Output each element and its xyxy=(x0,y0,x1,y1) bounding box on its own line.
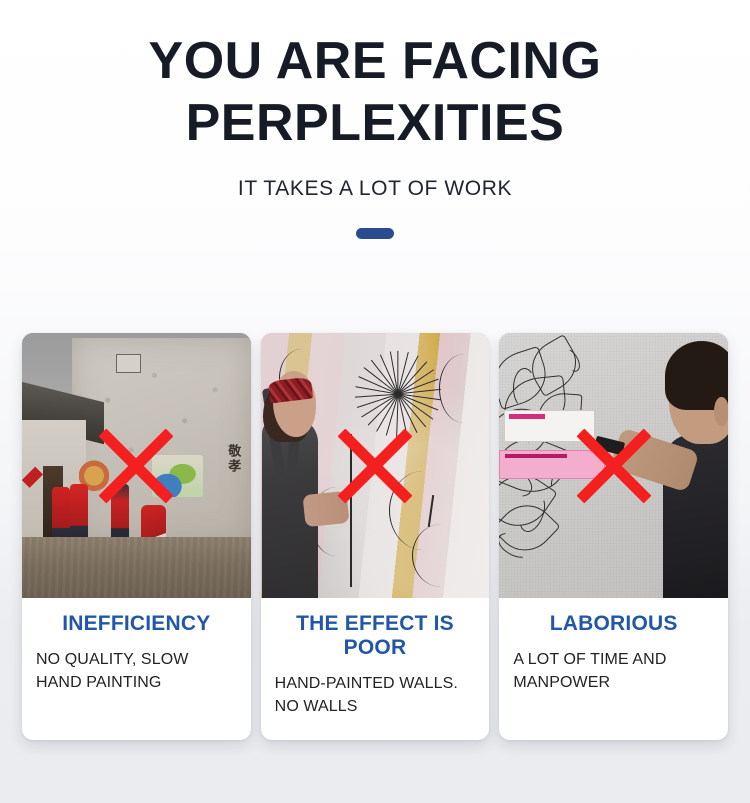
card-laborious[interactable]: LABORIOUS A LOT OF TIME AND MANPOWER xyxy=(499,333,728,740)
card-text-3: A LOT OF TIME AND MANPOWER xyxy=(513,648,714,694)
man-artist xyxy=(632,333,728,598)
card-body-3: LABORIOUS A LOT OF TIME AND MANPOWER xyxy=(499,598,728,740)
page-title-line-2: PERPLEXITIES xyxy=(0,92,750,154)
card-body-2: THE EFFECT IS POOR HAND-PAINTED WALLS. N… xyxy=(261,598,490,740)
divider-pill xyxy=(356,228,394,239)
card-media-1: 敬孝 xyxy=(22,333,251,598)
chrysanthemum-outline xyxy=(357,349,439,439)
wall-notice-white xyxy=(504,410,595,442)
page-header: YOU ARE FACING PERPLEXITIES IT TAKES A L… xyxy=(0,0,750,239)
leaf-outline-5 xyxy=(439,354,489,423)
volunteer-2 xyxy=(70,484,88,545)
page-title-line-1: YOU ARE FACING xyxy=(0,30,750,92)
photo-man-drawing-line-art xyxy=(499,333,728,598)
card-media-3 xyxy=(499,333,728,598)
card-title-3: LABORIOUS xyxy=(513,612,714,636)
photo-woman-painting-floral-mural xyxy=(261,333,490,598)
card-text-2: HAND-PAINTED WALLS. NO WALLS xyxy=(275,672,476,718)
ear xyxy=(714,397,728,426)
card-inefficiency[interactable]: 敬孝 INEFFICIENCY NO QUALITY, SLOW HAND PA… xyxy=(22,333,251,740)
promo-page: YOU ARE FACING PERPLEXITIES IT TAKES A L… xyxy=(0,0,750,803)
wall-sign xyxy=(116,354,141,373)
page-subtitle: IT TAKES A LOT OF WORK xyxy=(0,176,750,202)
painting-arm xyxy=(302,491,349,527)
leaf-outline-3 xyxy=(412,524,471,588)
page-title: YOU ARE FACING PERPLEXITIES xyxy=(0,30,750,154)
red-bandana xyxy=(268,376,313,403)
wall-notice-pink xyxy=(499,450,604,479)
woman-artist xyxy=(261,354,348,598)
photo-rural-wall-painting: 敬孝 xyxy=(22,333,251,598)
volunteer-3 xyxy=(111,484,129,545)
divider xyxy=(0,228,750,239)
card-media-2 xyxy=(261,333,490,598)
card-title-2: THE EFFECT IS POOR xyxy=(275,612,476,660)
wall-calligraphy: 敬孝 xyxy=(225,444,239,474)
card-text-1: NO QUALITY, SLOW HAND PAINTING xyxy=(36,648,237,694)
card-body-1: INEFFICIENCY NO QUALITY, SLOW HAND PAINT… xyxy=(22,598,251,740)
card-grid: 敬孝 INEFFICIENCY NO QUALITY, SLOW HAND PA… xyxy=(22,333,728,740)
mural-scene-right xyxy=(152,455,202,497)
card-effect-is-poor[interactable]: THE EFFECT IS POOR HAND-PAINTED WALLS. N… xyxy=(261,333,490,740)
card-title-1: INEFFICIENCY xyxy=(36,612,237,636)
dirt-ground xyxy=(22,537,251,598)
